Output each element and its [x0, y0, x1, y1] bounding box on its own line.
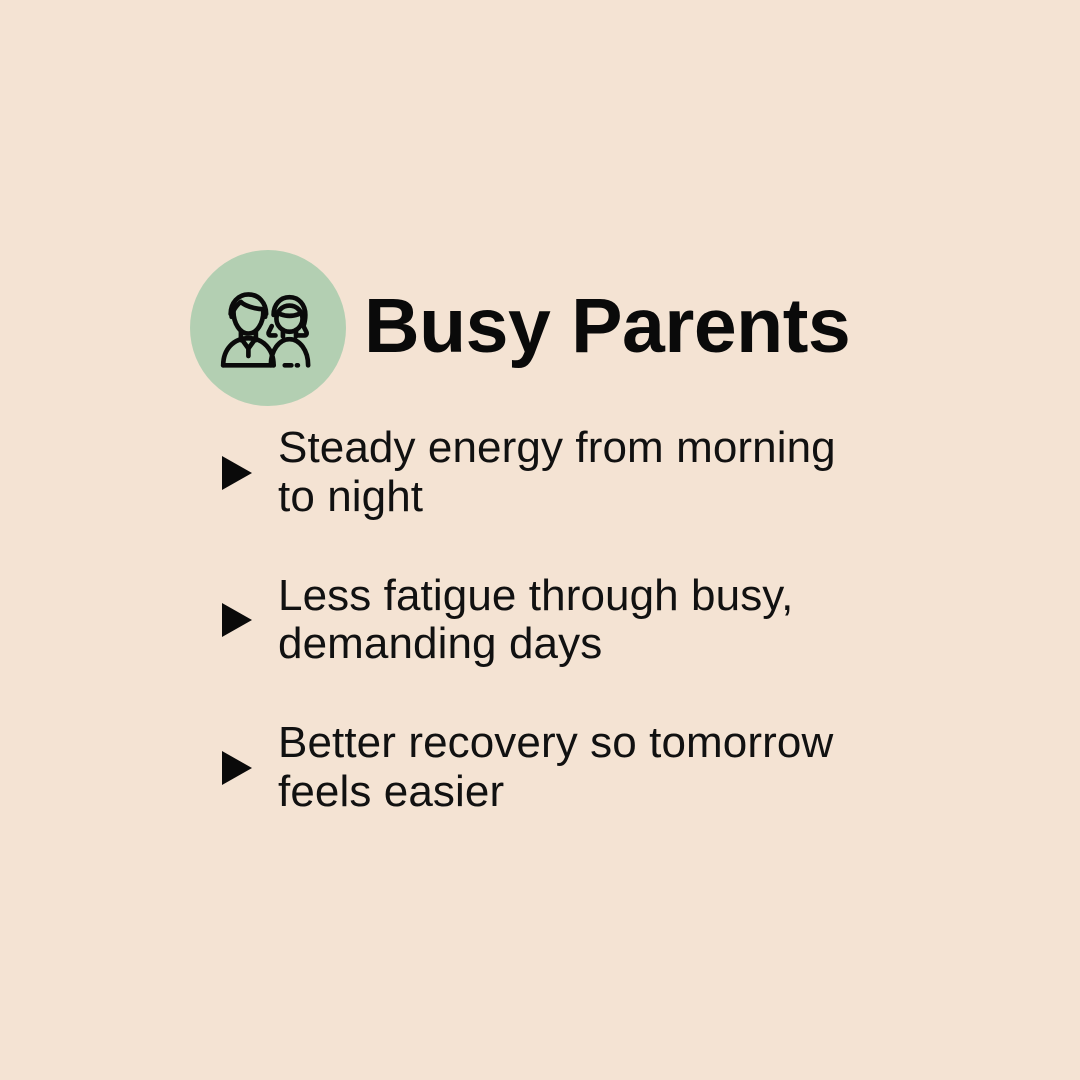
card-header: Busy Parents — [190, 250, 850, 406]
benefits-list: Steady energy from morning to night Less… — [222, 424, 922, 817]
triangle-bullet-icon — [222, 751, 278, 785]
busy-parents-icon-badge — [190, 250, 346, 406]
benefit-text: Steady energy from morning to night — [278, 424, 878, 522]
triangle-bullet-icon — [222, 603, 278, 637]
list-item: Better recovery so tomorrow feels easier — [222, 719, 922, 817]
triangle-bullet-icon — [222, 456, 278, 490]
list-item: Steady energy from morning to night — [222, 424, 922, 522]
page-title: Busy Parents — [364, 288, 850, 369]
busy-parents-card: Busy Parents Steady energy from morning … — [0, 0, 1080, 1080]
benefit-text: Better recovery so tomorrow feels easier — [278, 719, 878, 817]
busy-parents-icon — [212, 272, 324, 384]
benefit-text: Less fatigue through busy, demanding day… — [278, 572, 878, 670]
list-item: Less fatigue through busy, demanding day… — [222, 572, 922, 670]
